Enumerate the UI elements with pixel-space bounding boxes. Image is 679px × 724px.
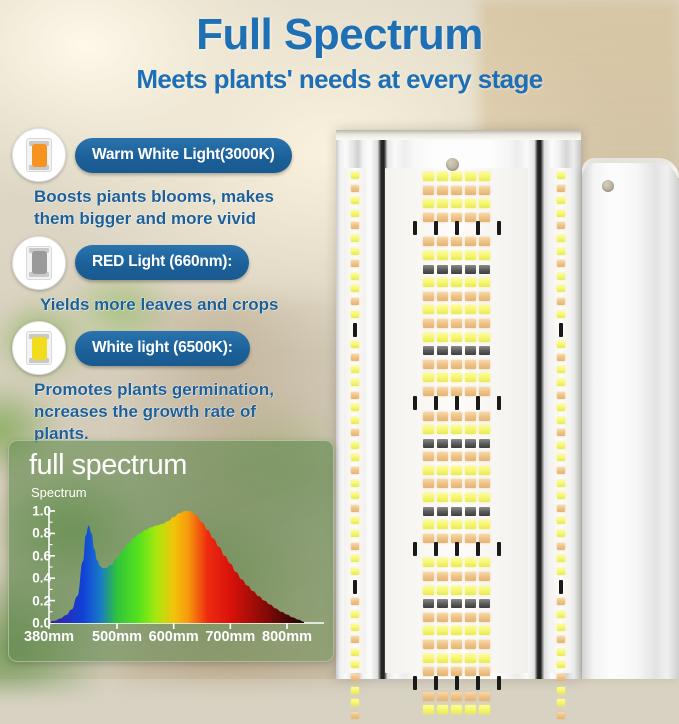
led-chip bbox=[479, 251, 490, 260]
led-resistor bbox=[497, 221, 501, 235]
led-chip bbox=[479, 278, 490, 287]
led-chip bbox=[479, 705, 490, 714]
led-chip bbox=[479, 292, 490, 301]
led-row bbox=[389, 265, 524, 274]
led-row bbox=[389, 412, 524, 421]
led-chip bbox=[437, 425, 448, 434]
led-chip bbox=[423, 319, 434, 328]
led-row bbox=[553, 442, 569, 449]
led-chip bbox=[451, 586, 462, 595]
led-chip bbox=[557, 454, 565, 461]
led-chip bbox=[479, 599, 490, 608]
led-chip bbox=[557, 543, 565, 550]
led-row bbox=[347, 442, 363, 449]
led-row bbox=[553, 341, 569, 348]
led-row bbox=[389, 705, 524, 714]
led-resistor bbox=[455, 221, 459, 235]
led-row bbox=[553, 454, 569, 461]
led-chip bbox=[351, 366, 359, 373]
led-chip bbox=[557, 429, 565, 436]
led-chip bbox=[479, 333, 490, 342]
led-chip bbox=[437, 520, 448, 529]
led-chip bbox=[465, 507, 476, 516]
led-chip bbox=[465, 692, 476, 701]
led-chip bbox=[437, 305, 448, 314]
led-chip bbox=[437, 667, 448, 676]
led-row bbox=[347, 624, 363, 631]
led-row bbox=[553, 222, 569, 229]
led-row bbox=[553, 568, 569, 575]
led-chip bbox=[351, 273, 359, 280]
led-row bbox=[389, 507, 524, 516]
led-chip-gray-icon bbox=[12, 236, 66, 290]
led-resistor bbox=[497, 542, 501, 556]
led-chip bbox=[351, 530, 359, 537]
chip-die bbox=[32, 144, 47, 167]
led-chip bbox=[557, 392, 565, 399]
led-row bbox=[389, 692, 524, 701]
led-chip bbox=[479, 558, 490, 567]
led-chip bbox=[465, 586, 476, 595]
led-row bbox=[347, 210, 363, 217]
led-chip bbox=[351, 354, 359, 361]
led-chip bbox=[451, 319, 462, 328]
led-chip bbox=[465, 186, 476, 195]
led-row bbox=[553, 354, 569, 361]
led-row bbox=[347, 185, 363, 192]
led-chip bbox=[351, 467, 359, 474]
feature-badge-red-light[interactable]: RED Light (660nm): bbox=[75, 245, 249, 280]
led-row bbox=[553, 661, 569, 668]
led-chip bbox=[451, 237, 462, 246]
led-chip bbox=[351, 341, 359, 348]
led-chip bbox=[465, 613, 476, 622]
led-chip bbox=[351, 185, 359, 192]
led-chip bbox=[465, 333, 476, 342]
led-resistor bbox=[559, 580, 563, 594]
x-tick-label: 800mm bbox=[262, 629, 312, 645]
led-chip bbox=[479, 237, 490, 246]
led-chip bbox=[437, 572, 448, 581]
y-tick-label: 0.6 bbox=[17, 548, 51, 563]
led-chip bbox=[465, 534, 476, 543]
led-chip bbox=[451, 599, 462, 608]
led-chip bbox=[351, 429, 359, 436]
led-chip bbox=[557, 624, 565, 631]
led-row bbox=[347, 341, 363, 348]
led-chip bbox=[557, 248, 565, 255]
led-chip bbox=[351, 392, 359, 399]
led-chip bbox=[465, 640, 476, 649]
screw-icon bbox=[446, 158, 459, 171]
led-chip bbox=[465, 319, 476, 328]
led-chip bbox=[479, 586, 490, 595]
led-chip bbox=[557, 210, 565, 217]
led-chip bbox=[437, 346, 448, 355]
led-chip bbox=[557, 505, 565, 512]
led-chip bbox=[479, 199, 490, 208]
led-row bbox=[553, 555, 569, 562]
led-chip bbox=[423, 640, 434, 649]
led-row bbox=[553, 492, 569, 499]
led-row bbox=[553, 624, 569, 631]
spectrum-curve bbox=[49, 511, 304, 623]
led-row bbox=[389, 360, 524, 369]
led-row bbox=[389, 586, 524, 595]
led-resistor bbox=[434, 221, 438, 235]
led-resistor bbox=[353, 580, 357, 594]
led-chip bbox=[479, 412, 490, 421]
led-resistor bbox=[476, 542, 480, 556]
led-chip bbox=[437, 654, 448, 663]
led-chip bbox=[423, 360, 434, 369]
led-chip bbox=[479, 466, 490, 475]
led-row bbox=[347, 404, 363, 411]
led-chip bbox=[557, 712, 565, 719]
led-chip bbox=[465, 292, 476, 301]
led-chip bbox=[437, 626, 448, 635]
led-chip bbox=[423, 172, 434, 181]
led-chip bbox=[479, 319, 490, 328]
led-row bbox=[347, 480, 363, 487]
led-row bbox=[389, 572, 524, 581]
led-row bbox=[553, 379, 569, 386]
x-tick-label: 500mm bbox=[92, 629, 142, 645]
led-chip bbox=[479, 493, 490, 502]
led-chip bbox=[465, 705, 476, 714]
led-bar-row bbox=[389, 221, 524, 235]
led-row bbox=[553, 674, 569, 681]
led-chip bbox=[437, 599, 448, 608]
led-bar-row bbox=[389, 396, 524, 410]
lamp-side-housing bbox=[582, 163, 679, 679]
led-chip bbox=[423, 599, 434, 608]
led-chip bbox=[557, 598, 565, 605]
led-row bbox=[389, 640, 524, 649]
led-row bbox=[347, 379, 363, 386]
led-chip bbox=[451, 360, 462, 369]
led-row bbox=[389, 558, 524, 567]
led-resistor bbox=[413, 221, 417, 235]
led-chip bbox=[479, 692, 490, 701]
feature-header: RED Light (660nm): bbox=[12, 236, 342, 290]
led-chip bbox=[437, 237, 448, 246]
led-row bbox=[389, 251, 524, 260]
led-chip bbox=[423, 346, 434, 355]
led-chip bbox=[451, 520, 462, 529]
led-row bbox=[347, 517, 363, 524]
led-chip bbox=[451, 199, 462, 208]
led-chip bbox=[557, 674, 565, 681]
led-resistor bbox=[559, 323, 563, 337]
led-chip bbox=[423, 251, 434, 260]
led-resistor bbox=[413, 676, 417, 690]
led-chip bbox=[479, 626, 490, 635]
led-row bbox=[553, 517, 569, 524]
led-resistor bbox=[353, 323, 357, 337]
led-chip bbox=[351, 260, 359, 267]
led-row bbox=[389, 654, 524, 663]
led-chip bbox=[423, 265, 434, 274]
led-chip bbox=[557, 298, 565, 305]
led-row bbox=[347, 222, 363, 229]
led-chip bbox=[437, 373, 448, 382]
led-row bbox=[553, 480, 569, 487]
led-row bbox=[347, 543, 363, 550]
led-chip bbox=[423, 705, 434, 714]
led-chip bbox=[465, 425, 476, 434]
led-row bbox=[347, 649, 363, 656]
led-chip bbox=[451, 172, 462, 181]
led-chip bbox=[479, 667, 490, 676]
feature-badge-white-light[interactable]: White light (6500K): bbox=[75, 331, 250, 366]
led-row bbox=[389, 439, 524, 448]
led-chip bbox=[557, 555, 565, 562]
led-chip bbox=[423, 586, 434, 595]
led-chip bbox=[479, 425, 490, 434]
led-chip bbox=[437, 333, 448, 342]
led-resistor bbox=[455, 542, 459, 556]
led-chip bbox=[437, 613, 448, 622]
led-chip bbox=[451, 654, 462, 663]
led-chip bbox=[437, 186, 448, 195]
led-chip bbox=[351, 568, 359, 575]
led-chip bbox=[557, 366, 565, 373]
led-chip bbox=[437, 251, 448, 260]
led-row bbox=[347, 505, 363, 512]
led-row bbox=[347, 273, 363, 280]
led-chip bbox=[557, 530, 565, 537]
led-chip bbox=[479, 439, 490, 448]
led-row bbox=[553, 260, 569, 267]
led-resistor bbox=[434, 542, 438, 556]
led-strip-center bbox=[389, 172, 524, 719]
led-row bbox=[553, 598, 569, 605]
led-row bbox=[347, 636, 363, 643]
chart-y-axis: 0.00.20.40.60.81.0 bbox=[17, 504, 51, 630]
led-chip bbox=[479, 520, 490, 529]
led-chip bbox=[557, 568, 565, 575]
led-bar-row bbox=[389, 542, 524, 556]
led-chip bbox=[437, 412, 448, 421]
led-chip bbox=[351, 543, 359, 550]
led-row bbox=[347, 454, 363, 461]
led-chip bbox=[351, 285, 359, 292]
led-chip bbox=[437, 319, 448, 328]
led-chip bbox=[465, 439, 476, 448]
led-chip bbox=[451, 265, 462, 274]
led-chip bbox=[423, 213, 434, 222]
led-chip bbox=[437, 360, 448, 369]
led-chip bbox=[557, 311, 565, 318]
led-chip bbox=[423, 305, 434, 314]
led-chip bbox=[423, 479, 434, 488]
led-chip bbox=[351, 649, 359, 656]
led-row bbox=[389, 278, 524, 287]
y-tick-label: 0.4 bbox=[17, 571, 51, 586]
led-row bbox=[389, 599, 524, 608]
led-chip bbox=[465, 479, 476, 488]
led-chip bbox=[423, 292, 434, 301]
led-chip bbox=[351, 210, 359, 217]
led-chip bbox=[465, 466, 476, 475]
led-row bbox=[553, 636, 569, 643]
led-chip bbox=[479, 213, 490, 222]
led-chip bbox=[423, 452, 434, 461]
led-chip bbox=[423, 373, 434, 382]
led-chip bbox=[451, 278, 462, 287]
led-chip-yellow-icon bbox=[12, 321, 66, 375]
led-chip bbox=[479, 360, 490, 369]
feature-badge-warm-white[interactable]: Warm White Light(3000K) bbox=[75, 138, 292, 173]
led-chip bbox=[479, 654, 490, 663]
led-chip bbox=[451, 493, 462, 502]
led-chip bbox=[479, 305, 490, 314]
led-row bbox=[553, 197, 569, 204]
led-row bbox=[553, 285, 569, 292]
led-chip bbox=[557, 235, 565, 242]
led-chip bbox=[557, 260, 565, 267]
led-chip bbox=[451, 251, 462, 260]
led-chip bbox=[451, 412, 462, 421]
led-row bbox=[389, 319, 524, 328]
led-chip bbox=[351, 624, 359, 631]
led-chip bbox=[423, 507, 434, 516]
led-chip bbox=[437, 493, 448, 502]
spectrum-chart-panel: full spectrum Spectrum 0.00.20.40.60.81.… bbox=[8, 440, 334, 662]
led-chip bbox=[557, 611, 565, 618]
led-row bbox=[347, 674, 363, 681]
led-row bbox=[347, 235, 363, 242]
led-row bbox=[553, 248, 569, 255]
led-chip bbox=[351, 480, 359, 487]
led-row bbox=[553, 210, 569, 217]
led-row bbox=[389, 373, 524, 382]
led-chip bbox=[423, 572, 434, 581]
feature-description-white-light: Promotes plants germination, ncreases th… bbox=[34, 379, 294, 444]
led-row bbox=[553, 273, 569, 280]
led-row bbox=[553, 649, 569, 656]
chip-body bbox=[26, 246, 52, 280]
led-chip bbox=[423, 534, 434, 543]
led-chip bbox=[351, 699, 359, 706]
led-chip bbox=[479, 534, 490, 543]
led-row bbox=[389, 346, 524, 355]
led-chip bbox=[423, 466, 434, 475]
led-row bbox=[553, 429, 569, 436]
led-chip bbox=[557, 379, 565, 386]
y-tick-label: 1.0 bbox=[17, 504, 51, 519]
led-row bbox=[389, 186, 524, 195]
led-row bbox=[389, 237, 524, 246]
led-chip bbox=[465, 654, 476, 663]
feature-red-light: RED Light (660nm): Yields more leaves an… bbox=[12, 236, 342, 316]
led-chip bbox=[423, 278, 434, 287]
led-chip bbox=[451, 626, 462, 635]
led-row bbox=[553, 417, 569, 424]
led-chip bbox=[557, 172, 565, 179]
led-row bbox=[347, 197, 363, 204]
led-row bbox=[389, 466, 524, 475]
led-row bbox=[553, 687, 569, 694]
y-tick-label: 0.8 bbox=[17, 526, 51, 541]
feature-list: Warm White Light(3000K) Boosts piants bl… bbox=[12, 128, 342, 451]
led-row bbox=[553, 172, 569, 179]
led-chip bbox=[465, 265, 476, 274]
led-chip bbox=[437, 507, 448, 516]
led-chip bbox=[479, 613, 490, 622]
led-resistor bbox=[476, 396, 480, 410]
led-chip bbox=[437, 640, 448, 649]
led-chip bbox=[351, 712, 359, 719]
led-chip bbox=[451, 425, 462, 434]
led-row bbox=[389, 425, 524, 434]
header: Full Spectrum Meets plants' needs at eve… bbox=[0, 0, 679, 95]
led-chip bbox=[423, 558, 434, 567]
led-row bbox=[389, 626, 524, 635]
led-row bbox=[347, 172, 363, 179]
led-row bbox=[553, 505, 569, 512]
led-chip bbox=[437, 534, 448, 543]
led-chip bbox=[437, 558, 448, 567]
led-row bbox=[553, 392, 569, 399]
led-chip bbox=[437, 292, 448, 301]
led-chip bbox=[351, 404, 359, 411]
led-chip bbox=[437, 199, 448, 208]
led-chip bbox=[451, 572, 462, 581]
led-chip bbox=[479, 373, 490, 382]
led-chip bbox=[557, 417, 565, 424]
led-resistor bbox=[455, 396, 459, 410]
led-chip bbox=[465, 520, 476, 529]
led-chip bbox=[351, 311, 359, 318]
led-chip bbox=[479, 186, 490, 195]
led-chip bbox=[465, 172, 476, 181]
led-row bbox=[389, 333, 524, 342]
led-chip bbox=[465, 278, 476, 287]
led-chip bbox=[557, 185, 565, 192]
led-chip bbox=[423, 186, 434, 195]
led-chip bbox=[479, 479, 490, 488]
led-chip bbox=[351, 442, 359, 449]
led-chip bbox=[557, 649, 565, 656]
led-chip bbox=[465, 572, 476, 581]
led-row bbox=[553, 467, 569, 474]
led-chip bbox=[557, 636, 565, 643]
led-chip bbox=[451, 373, 462, 382]
led-row bbox=[553, 311, 569, 318]
led-chip bbox=[437, 479, 448, 488]
led-row bbox=[347, 687, 363, 694]
chart-plot-area bbox=[49, 511, 304, 623]
led-chip bbox=[351, 492, 359, 499]
led-row bbox=[389, 199, 524, 208]
led-chip bbox=[451, 452, 462, 461]
y-tick-label: 0.2 bbox=[17, 593, 51, 608]
led-chip bbox=[351, 417, 359, 424]
led-chip bbox=[465, 360, 476, 369]
led-strip-right bbox=[553, 172, 569, 724]
led-resistor bbox=[434, 676, 438, 690]
led-row bbox=[389, 479, 524, 488]
chip-die bbox=[32, 337, 47, 360]
led-chip bbox=[351, 517, 359, 524]
led-chip bbox=[465, 346, 476, 355]
led-chip bbox=[451, 186, 462, 195]
x-tick-label: 700mm bbox=[205, 629, 255, 645]
feature-header: Warm White Light(3000K) bbox=[12, 128, 342, 182]
led-chip bbox=[465, 558, 476, 567]
